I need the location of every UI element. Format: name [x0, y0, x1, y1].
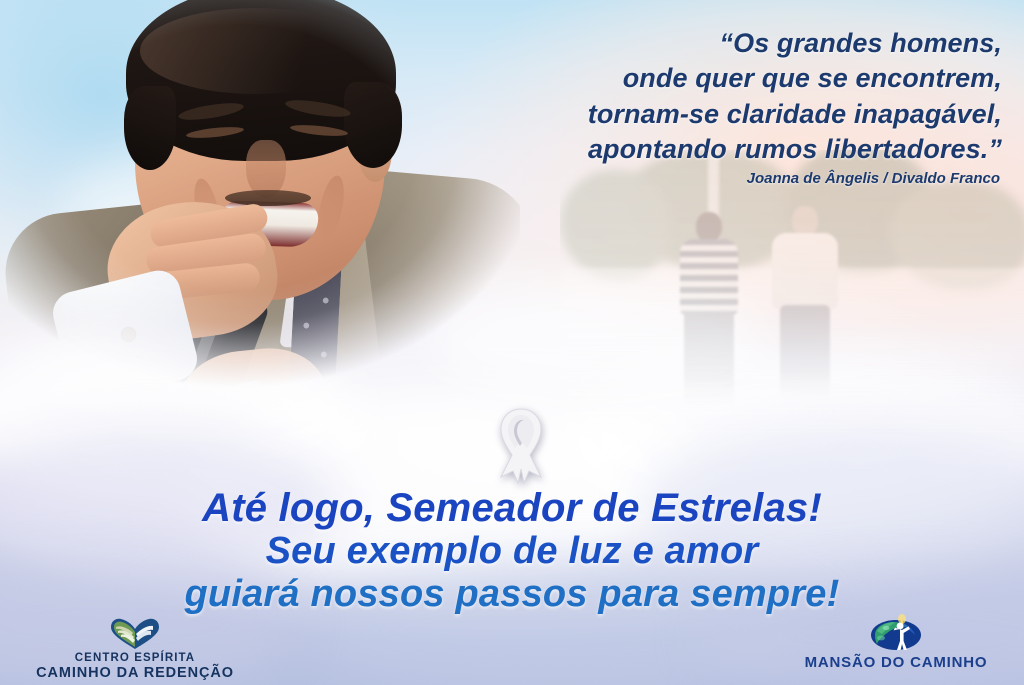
- quote-line-3: tornam-se claridade inapagável,: [382, 97, 1002, 132]
- logo-left-line-2: CAMINHO DA REDENÇÃO: [10, 665, 260, 682]
- logo-right-line-1: MANSÃO DO CAMINHO: [776, 654, 1016, 672]
- headline-line-2: Seu exemplo de luz e amor: [0, 530, 1024, 573]
- logo-mansao-do-caminho: MANSÃO DO CAMINHO: [776, 614, 1016, 672]
- heart-hands-icon: [107, 616, 163, 650]
- logo-centro-espirita: CENTRO ESPÍRITA CAMINHO DA REDENÇÃO: [10, 616, 260, 682]
- background-photo: [560, 150, 1024, 450]
- headline-line-3: guiará nossos passos para sempre!: [0, 573, 1024, 616]
- background-figure: [772, 206, 838, 412]
- quote-line-2: onde quer que se encontrem,: [382, 61, 1002, 96]
- headline-line-1: Até logo, Semeador de Estrelas!: [0, 487, 1024, 530]
- mourning-ribbon-icon: [487, 405, 555, 487]
- background-figure: [680, 212, 738, 412]
- quote-attribution: Joanna de Ângelis / Divaldo Franco: [380, 170, 1000, 187]
- cloud-blob: [430, 280, 760, 400]
- globe-figure-icon: [867, 614, 925, 652]
- quote-line-4: apontando rumos libertadores.”: [382, 132, 1002, 167]
- logo-left-line-1: CENTRO ESPÍRITA: [10, 652, 260, 665]
- cloud-blob: [60, 150, 360, 260]
- quote-text: “Os grandes homens, onde quer que se enc…: [382, 26, 1002, 167]
- cloud-blob: [0, 330, 360, 500]
- farewell-headline: Até logo, Semeador de Estrelas! Seu exem…: [0, 487, 1024, 615]
- quote-line-1: “Os grandes homens,: [382, 26, 1002, 61]
- memorial-poster: “Os grandes homens, onde quer que se enc…: [0, 0, 1024, 685]
